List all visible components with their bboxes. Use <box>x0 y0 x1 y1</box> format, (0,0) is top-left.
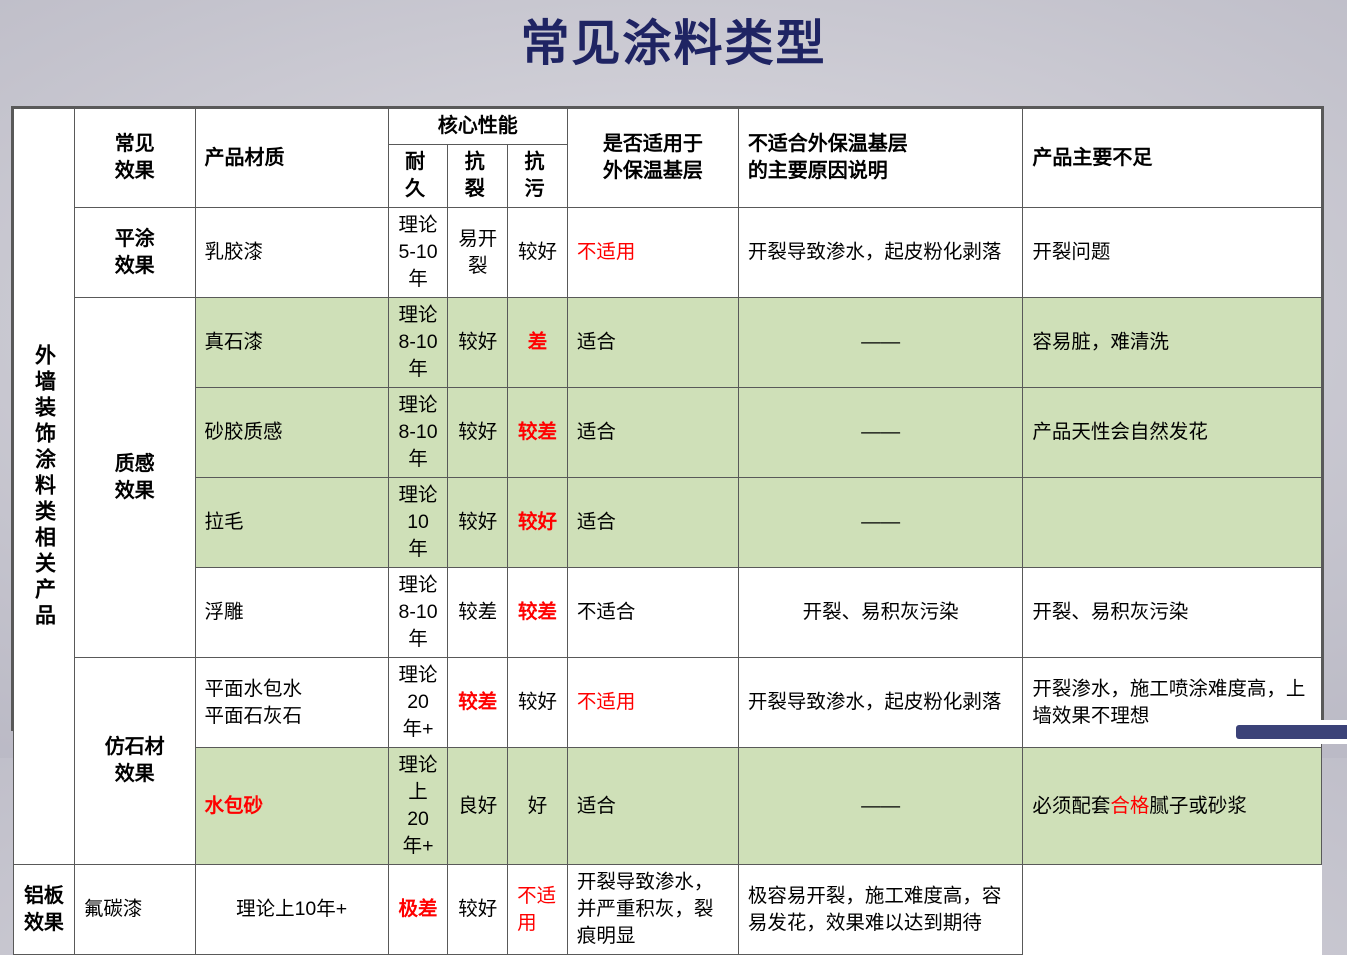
cell-shortcoming: 开裂问题 <box>1023 208 1322 298</box>
cell-reason: —— <box>738 388 1023 478</box>
group-label-line2: 效果 <box>23 910 65 937</box>
cell-stain: 好 <box>508 748 568 865</box>
cell-material: 平面水包水 平面石灰石 <box>195 658 388 748</box>
coating-types-table-container: 外墙装饰涂料类相关产品 常见 效果 产品材质 核心性能 是否适用于 外保温基层 … <box>11 106 1324 731</box>
cell-crack: 易开裂 <box>448 208 508 298</box>
slide-canvas: 常见涂料类型 外墙装饰涂料类相关产品 常见 效果 产品材质 核心性能 是否适用于… <box>0 0 1347 758</box>
cell-stain: 较差 <box>508 568 568 658</box>
group-label-line1: 仿石材 <box>84 734 186 761</box>
cell-stain: 较好 <box>508 478 568 568</box>
cell-material-line1: 平面水包水 <box>205 676 379 703</box>
cell-shortcoming: 开裂、易积灰污染 <box>1023 568 1322 658</box>
cell-stain: 较好 <box>448 865 508 955</box>
column-header-effect-line1: 常见 <box>84 131 186 158</box>
table-row: 铝板 效果 氟碳漆 理论上10年+ 极差 较好 不适用 开裂导致渗水，并严重积灰… <box>14 865 1322 955</box>
cell-durability: 理论8-10年 <box>388 388 448 478</box>
cell-suitability: 适合 <box>567 388 738 478</box>
cell-stain: 较差 <box>508 388 568 478</box>
column-header-material: 产品材质 <box>195 109 388 208</box>
group-label-line1: 质感 <box>84 451 186 478</box>
column-header-core-performance: 核心性能 <box>388 109 567 145</box>
cell-suitability: 适合 <box>567 298 738 388</box>
row-group-vertical-label: 外墙装饰涂料类相关产品 <box>14 109 75 865</box>
cell-stain: 较好 <box>508 658 568 748</box>
cell-durability: 理论8-10年 <box>388 568 448 658</box>
group-label-texture-coating: 质感 效果 <box>74 298 195 658</box>
cell-suitability: 不适用 <box>508 865 568 955</box>
table-row: 质感 效果 真石漆 理论8-10年 较好 差 适合 —— 容易脏，难清洗 <box>14 298 1322 388</box>
column-header-durability: 耐 久 <box>388 145 448 208</box>
cell-durability: 理论上10年+ <box>195 865 388 955</box>
column-header-reason: 不适合外保温基层 的主要原因说明 <box>738 109 1023 208</box>
cell-durability: 理论20年+ <box>388 658 448 748</box>
table-row: 仿石材 效果 平面水包水 平面石灰石 理论20年+ 较差 较好 不适用 开裂导致… <box>14 658 1322 748</box>
column-header-shortcoming: 产品主要不足 <box>1023 109 1322 208</box>
table-row: 浮雕 理论8-10年 较差 较差 不适合 开裂、易积灰污染 开裂、易积灰污染 <box>14 568 1322 658</box>
cell-reason: —— <box>738 298 1023 388</box>
cell-stain: 较好 <box>508 208 568 298</box>
group-label-line1: 平涂 <box>84 226 186 253</box>
cell-crack: 较差 <box>448 658 508 748</box>
cell-shortcoming: 产品天性会自然发花 <box>1023 388 1322 478</box>
column-header-suitability: 是否适用于 外保温基层 <box>567 109 738 208</box>
cell-crack: 极差 <box>388 865 448 955</box>
cell-shortcoming-suffix: 腻子或砂浆 <box>1149 795 1247 817</box>
cell-crack: 较好 <box>448 388 508 478</box>
column-header-reason-line1: 不适合外保温基层 <box>748 131 1014 158</box>
cell-material: 砂胶质感 <box>195 388 388 478</box>
cell-material-line2: 平面石灰石 <box>205 703 379 730</box>
table-row: 砂胶质感 理论8-10年 较好 较差 适合 —— 产品天性会自然发花 <box>14 388 1322 478</box>
cell-material: 氟碳漆 <box>74 865 195 955</box>
cell-material: 浮雕 <box>195 568 388 658</box>
cell-reason: —— <box>738 478 1023 568</box>
cell-material: 真石漆 <box>195 298 388 388</box>
cell-suitability: 不适用 <box>567 658 738 748</box>
cell-reason: 开裂导致渗水，起皮粉化剥落 <box>738 658 1023 748</box>
table-row: 水包砂 理论上20年+ 良好 好 适合 —— 必须配套合格腻子或砂浆 <box>14 748 1322 865</box>
cell-material: 水包砂 <box>195 748 388 865</box>
cell-durability: 理论8-10年 <box>388 298 448 388</box>
column-header-stain: 抗 污 <box>508 145 568 208</box>
table-row: 拉毛 理论10年 较好 较好 适合 —— <box>14 478 1322 568</box>
group-label-stone-imitation: 仿石材 效果 <box>74 658 195 865</box>
cell-shortcoming: 必须配套合格腻子或砂浆 <box>1023 748 1322 865</box>
cell-shortcoming-prefix: 必须配套 <box>1032 795 1110 817</box>
cell-material: 乳胶漆 <box>195 208 388 298</box>
cell-crack: 较差 <box>448 568 508 658</box>
cell-reason: 开裂导致渗水，起皮粉化剥落 <box>738 208 1023 298</box>
cell-stain: 差 <box>508 298 568 388</box>
coating-types-table: 外墙装饰涂料类相关产品 常见 效果 产品材质 核心性能 是否适用于 外保温基层 … <box>13 108 1322 955</box>
cell-suitability: 不适合 <box>567 568 738 658</box>
cell-suitability: 适合 <box>567 478 738 568</box>
column-header-suitability-line2: 外保温基层 <box>577 158 729 185</box>
table-header-row-1: 外墙装饰涂料类相关产品 常见 效果 产品材质 核心性能 是否适用于 外保温基层 … <box>14 109 1322 145</box>
group-label-line2: 效果 <box>84 478 186 505</box>
cell-reason: 开裂导致渗水，并严重积灰，裂痕明显 <box>567 865 738 955</box>
cell-reason: 开裂、易积灰污染 <box>738 568 1023 658</box>
page-title: 常见涂料类型 <box>0 14 1347 74</box>
column-header-suitability-line1: 是否适用于 <box>577 131 729 158</box>
cell-suitability: 适合 <box>567 748 738 865</box>
cell-shortcoming: 容易脏，难清洗 <box>1023 298 1322 388</box>
cell-shortcoming <box>1023 478 1322 568</box>
column-header-crack: 抗 裂 <box>448 145 508 208</box>
group-label-line2: 效果 <box>84 761 186 788</box>
column-header-reason-line2: 的主要原因说明 <box>748 158 1014 185</box>
cell-shortcoming: 极容易开裂，施工难度高，容易发花，效果难以达到期待 <box>738 865 1023 955</box>
column-header-effect-line2: 效果 <box>84 158 186 185</box>
decorative-navy-bar <box>1231 720 1347 744</box>
group-label-line1: 铝板 <box>23 883 65 910</box>
row-group-vertical-label-text: 外墙装饰涂料类相关产品 <box>33 344 54 630</box>
cell-durability: 理论上20年+ <box>388 748 448 865</box>
cell-suitability: 不适用 <box>567 208 738 298</box>
table-row: 平涂 效果 乳胶漆 理论5-10年 易开裂 较好 不适用 开裂导致渗水，起皮粉化… <box>14 208 1322 298</box>
group-label-line2: 效果 <box>84 253 186 280</box>
cell-durability: 理论10年 <box>388 478 448 568</box>
group-label-flat-coating: 平涂 效果 <box>74 208 195 298</box>
cell-crack: 较好 <box>448 478 508 568</box>
cell-crack: 良好 <box>448 748 508 865</box>
cell-durability: 理论5-10年 <box>388 208 448 298</box>
cell-crack: 较好 <box>448 298 508 388</box>
cell-material: 拉毛 <box>195 478 388 568</box>
cell-shortcoming-highlight: 合格 <box>1110 795 1149 817</box>
column-header-effect: 常见 效果 <box>74 109 195 208</box>
cell-reason: —— <box>738 748 1023 865</box>
group-label-aluminum-panel: 铝板 效果 <box>14 865 75 955</box>
